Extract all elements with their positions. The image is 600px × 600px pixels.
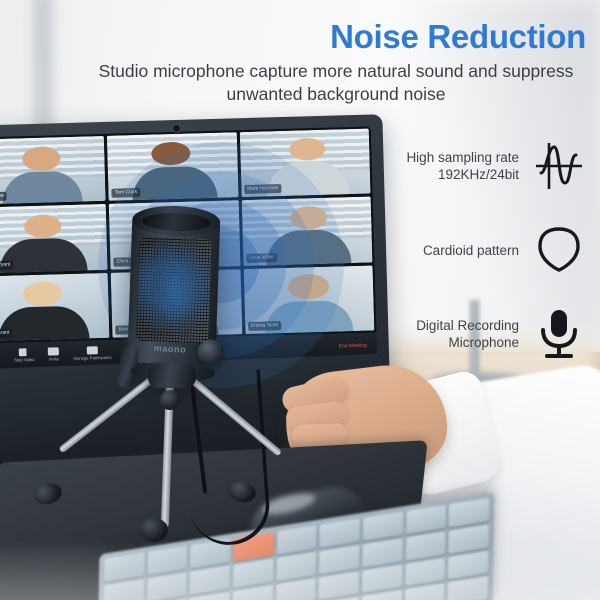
- video-participant-tile: Dave Miller: [241, 197, 372, 266]
- participant-name: Lisa Grant: [0, 329, 13, 339]
- toolbar-item-label: Manage Participants: [73, 355, 111, 361]
- video-participant-tile: Paul Bryant: [0, 204, 108, 273]
- toolbar-item-label: Stop Video: [14, 357, 35, 363]
- video-participant-tile: Mark Harrison: [239, 129, 370, 198]
- tripod-adjust-knob[interactable]: [160, 390, 180, 410]
- participant-name: Dave Miller: [246, 253, 277, 263]
- page-title: Noise Reduction: [330, 18, 586, 56]
- bottom-soft-gradient: [0, 540, 600, 600]
- feature-item-cardioid-pattern: Cardioid pattern: [365, 222, 587, 278]
- usb-microphone: maono: [123, 194, 225, 373]
- participant-name: Emma Scott: [248, 321, 281, 331]
- feature-item-sampling-rate: High sampling rate 192KHz/24bit: [365, 138, 587, 194]
- feature-item-digital-recording: Digital Recording Microphone: [365, 306, 587, 362]
- waveform-axes-icon: [531, 138, 587, 194]
- video-participant-tile: Tom Clark: [107, 132, 238, 201]
- microphone-icon: [531, 306, 587, 362]
- toolbar-stop-video-button[interactable]: Stop Video: [14, 348, 35, 363]
- toolbar-item-label: Invite: [49, 356, 59, 361]
- cardioid-polar-pattern-icon: [531, 222, 587, 278]
- toolbar-participants-button[interactable]: Manage Participants: [73, 346, 112, 361]
- video-participant-tile: Anna Lee: [0, 136, 106, 205]
- product-brand-label: maono: [153, 343, 186, 355]
- toolbar-invite-button[interactable]: Invite: [48, 347, 59, 361]
- camera-icon: [18, 348, 29, 356]
- video-participant-tile: Emma Scott: [243, 265, 374, 334]
- person-finger: [292, 423, 349, 447]
- feature-label: Digital Recording Microphone: [416, 317, 519, 351]
- tripod-foot: [140, 518, 168, 542]
- invite-icon: [48, 347, 59, 355]
- end-meeting-button[interactable]: End Meeting: [339, 343, 367, 350]
- feature-label: Cardioid pattern: [423, 242, 519, 259]
- video-participant-tile: Lisa Grant: [0, 273, 110, 342]
- product-banner: Anna Lee Tom Clark Mark Harrison: [0, 0, 600, 600]
- page-subtitle: Studio microphone capture more natural s…: [86, 60, 586, 106]
- participants-icon: [87, 346, 98, 354]
- participant-name: Mark Harrison: [244, 184, 282, 194]
- tripod-head: [148, 364, 196, 388]
- participant-name: Paul Bryant: [0, 260, 13, 270]
- feature-list: High sampling rate 192KHz/24bit Cardioid…: [365, 138, 587, 390]
- feature-label: High sampling rate 192KHz/24bit: [406, 149, 519, 183]
